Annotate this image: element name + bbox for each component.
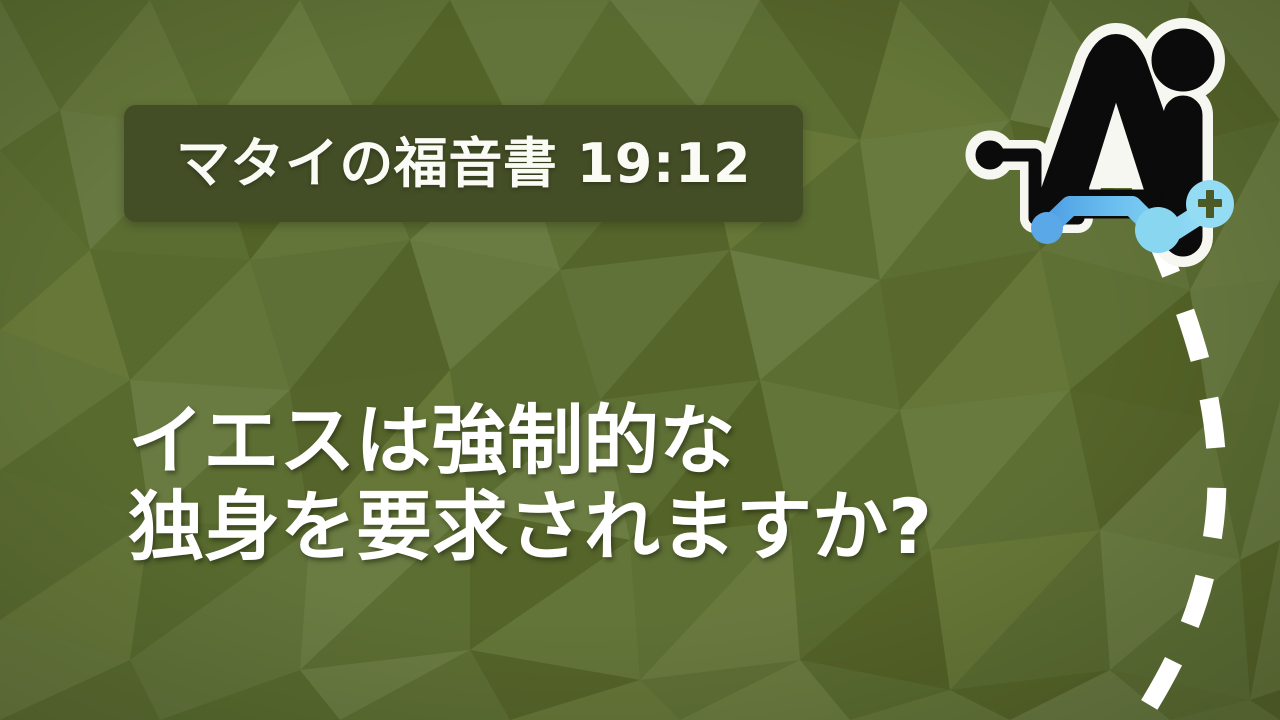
headline-question: イエスは強制的な 独身を要求されますか? xyxy=(128,398,1208,570)
brand-logo[interactable] xyxy=(960,18,1240,268)
slide-canvas: マタイの福音書 19:12 イエスは強制的な 独身を要求されますか? xyxy=(0,0,1280,720)
headline-line-2: 独身を要求されますか? xyxy=(128,484,1208,570)
letter-i-dot-icon xyxy=(1152,29,1214,91)
verse-reference-text: マタイの福音書 19:12 xyxy=(176,137,751,191)
circuit-node-a-icon xyxy=(1031,212,1063,244)
verse-reference-badge: マタイの福音書 19:12 xyxy=(124,105,803,222)
headline-line-1: イエスは強制的な xyxy=(128,398,1208,484)
circuit-node-b-icon xyxy=(1135,207,1181,253)
